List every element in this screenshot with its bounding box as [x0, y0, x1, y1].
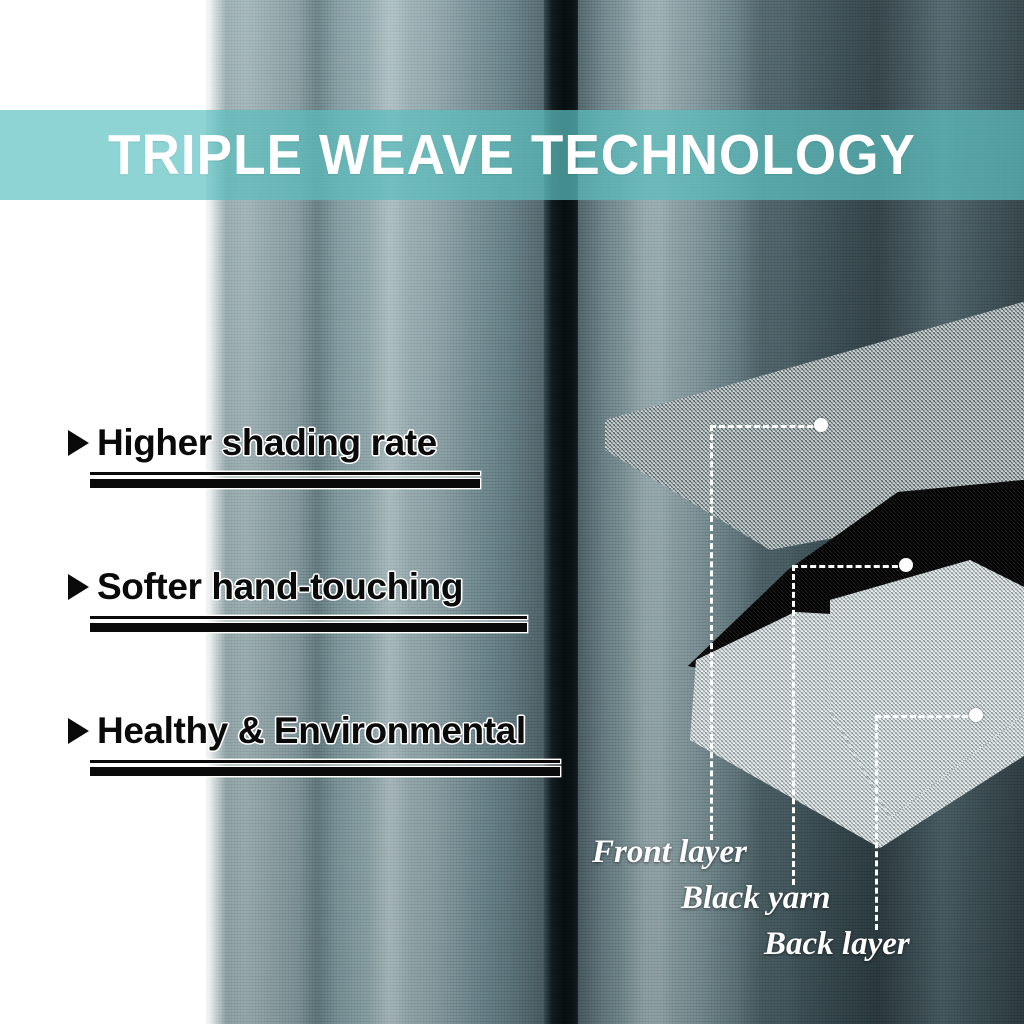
underline-thick-rule: [90, 623, 527, 632]
feature-underline: [90, 472, 480, 488]
feature-item-shading: Higher shading rate: [68, 424, 480, 488]
leader-line-back-vertical: [875, 715, 878, 930]
callout-dot-front-layer: [814, 418, 828, 432]
layer-label-front: Front layer: [592, 836, 747, 869]
feature-item-environmental: Healthy & Environmental: [68, 712, 560, 776]
feature-underline: [90, 616, 527, 632]
layer-label-back: Back layer: [764, 928, 910, 961]
leader-line-front-horizontal: [710, 425, 822, 428]
callout-dot-black-yarn: [899, 558, 913, 572]
feature-label: Healthy & Environmental: [97, 712, 526, 751]
layer-label-yarn: Black yarn: [681, 882, 830, 915]
callout-dot-back-layer: [969, 708, 983, 722]
leader-line-yarn-vertical: [792, 565, 795, 885]
feature-item-softness: Softer hand-touching: [68, 568, 527, 632]
feature-label: Higher shading rate: [97, 424, 437, 463]
leader-line-front-vertical: [710, 425, 713, 840]
triangle-right-icon: [68, 430, 89, 456]
underline-thin-rule: [90, 760, 560, 763]
underline-thick-rule: [90, 479, 480, 488]
leader-line-back-horizontal: [875, 715, 977, 718]
feature-label: Softer hand-touching: [97, 568, 463, 607]
feature-underline: [90, 760, 560, 776]
triangle-right-icon: [68, 574, 89, 600]
underline-thick-rule: [90, 767, 560, 776]
feature-list: Higher shading rate Softer hand-touching…: [0, 0, 1024, 1024]
infographic-canvas: Front layer Black yarn Back layer TRIPLE…: [0, 0, 1024, 1024]
underline-thin-rule: [90, 472, 480, 475]
underline-thin-rule: [90, 616, 527, 619]
triangle-right-icon: [68, 718, 89, 744]
leader-line-yarn-horizontal: [792, 565, 907, 568]
